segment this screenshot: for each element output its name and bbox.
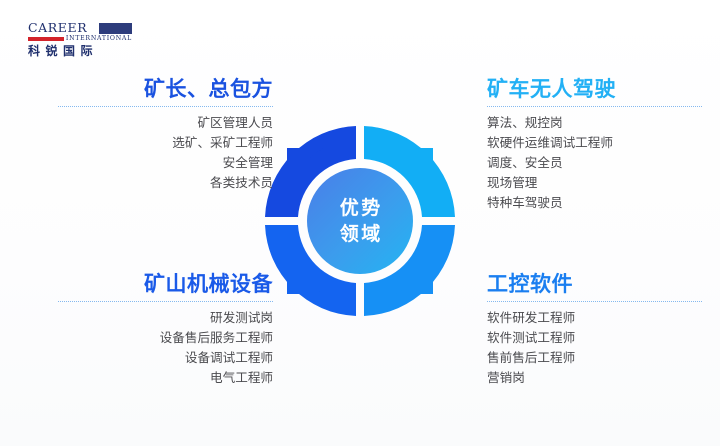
- list-item: 软硬件运维调试工程师: [487, 133, 702, 153]
- quadrant-title-bottom-right: 工控软件: [487, 273, 702, 297]
- list-item: 调度、安全员: [487, 153, 702, 173]
- list-item: 软件研发工程师: [487, 308, 702, 328]
- quadrant-divider-bottom-right: [487, 301, 702, 302]
- list-item: 现场管理: [487, 173, 702, 193]
- list-item: 设备售后服务工程师: [58, 328, 273, 348]
- list-item: 矿区管理人员: [58, 113, 273, 133]
- list-item: 各类技术员: [58, 173, 273, 193]
- quadrant-title-top-right: 矿车无人驾驶: [487, 78, 702, 102]
- quadrant-list-top-left: 矿区管理人员 选矿、采矿工程师 安全管理 各类技术员: [58, 113, 273, 193]
- list-item: 售前售后工程师: [487, 348, 702, 368]
- quadrant-list-bottom-left: 研发测试岗 设备售后服务工程师 设备调试工程师 电气工程师: [58, 308, 273, 388]
- list-item: 电气工程师: [58, 368, 273, 388]
- quadrant-divider-top-left: [58, 106, 273, 107]
- logo-mid-row: INTERNATIONAL: [28, 36, 132, 42]
- quadrant-block-top-left: 矿长、总包方 矿区管理人员 选矿、采矿工程师 安全管理 各类技术员: [58, 78, 273, 193]
- list-item: 营销岗: [487, 368, 702, 388]
- list-item: 研发测试岗: [58, 308, 273, 328]
- quadrant-title-top-left: 矿长、总包方: [58, 78, 273, 102]
- logo-brand-en: CAREER: [28, 22, 87, 35]
- list-item: 算法、规控岗: [487, 113, 702, 133]
- list-item: 软件测试工程师: [487, 328, 702, 348]
- list-item: 设备调试工程师: [58, 348, 273, 368]
- advantage-donut-diagram: 优势 领域: [251, 112, 469, 330]
- company-logo: CAREER INTERNATIONAL 科锐国际: [28, 22, 132, 58]
- quadrant-block-bottom-right: 工控软件 软件研发工程师 软件测试工程师 售前售后工程师 营销岗: [487, 273, 702, 388]
- quadrant-divider-top-right: [487, 106, 702, 107]
- logo-brand-cn: 科锐国际: [28, 45, 132, 58]
- logo-top-row: CAREER: [28, 22, 132, 35]
- quadrant-divider-bottom-left: [58, 301, 273, 302]
- quadrant-list-bottom-right: 软件研发工程师 软件测试工程师 售前售后工程师 营销岗: [487, 308, 702, 388]
- logo-block-mark-icon: [99, 23, 132, 34]
- quadrant-block-top-right: 矿车无人驾驶 算法、规控岗 软硬件运维调试工程师 调度、安全员 现场管理 特种车…: [487, 78, 702, 213]
- slide-canvas: CAREER INTERNATIONAL 科锐国际: [0, 0, 720, 446]
- logo-brand-sub-en: INTERNATIONAL: [66, 36, 132, 42]
- list-item: 安全管理: [58, 153, 273, 173]
- list-item: 选矿、采矿工程师: [58, 133, 273, 153]
- list-item: 特种车驾驶员: [487, 193, 702, 213]
- quadrant-block-bottom-left: 矿山机械设备 研发测试岗 设备售后服务工程师 设备调试工程师 电气工程师: [58, 273, 273, 388]
- quadrant-list-top-right: 算法、规控岗 软硬件运维调试工程师 调度、安全员 现场管理 特种车驾驶员: [487, 113, 702, 213]
- logo-red-bar-icon: [28, 37, 64, 41]
- donut-core-circle: [307, 168, 413, 274]
- quadrant-title-bottom-left: 矿山机械设备: [58, 273, 273, 297]
